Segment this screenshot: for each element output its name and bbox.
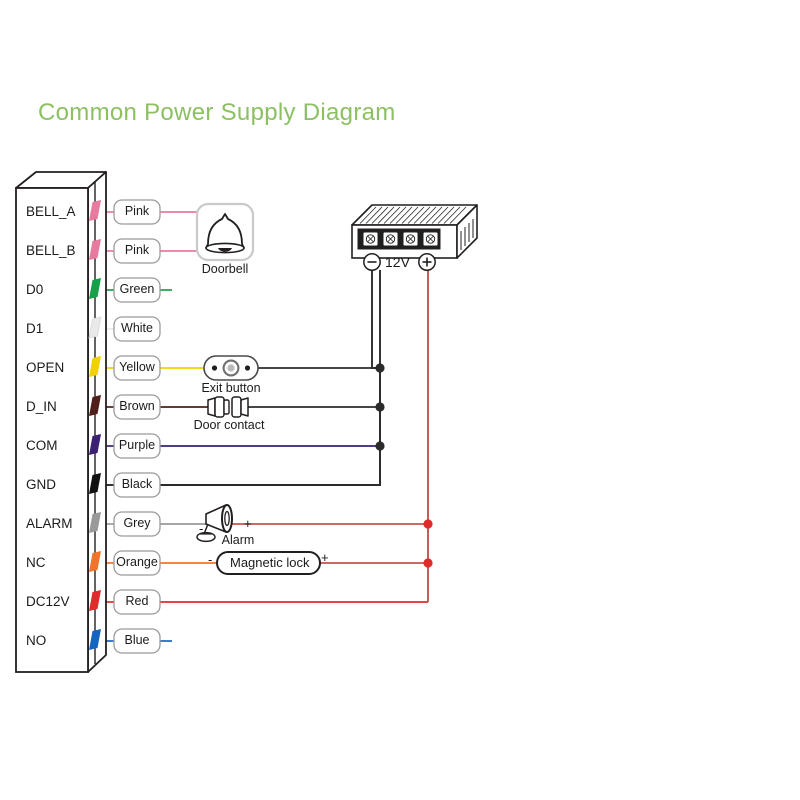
terminal-label-d1: D1 — [26, 321, 43, 336]
ground-bus-junction-0 — [375, 363, 384, 372]
ground-bus-junction-2 — [375, 441, 384, 450]
terminal-label-dc12v: DC12V — [26, 594, 70, 609]
psu-negative-to-bus — [372, 323, 380, 368]
psu-voltage-label: 12V — [385, 254, 410, 270]
terminal-label-open: OPEN — [26, 360, 64, 375]
terminal-label-d0: D0 — [26, 282, 43, 297]
terminal-label-alarm: ALARM — [26, 516, 73, 531]
wire-gnd-bus-to-psu-negative — [160, 270, 380, 485]
terminal-label-no: NO — [26, 633, 46, 648]
wire-name-pink-1: Pink — [114, 243, 160, 257]
terminal-label-com: COM — [26, 438, 58, 453]
terminal-label-gnd: GND — [26, 477, 56, 492]
alarm-negative-sign: - — [199, 521, 203, 536]
terminal-label-nc: NC — [26, 555, 46, 570]
wiring-diagram-canvas: Common Power Supply Diagram — [0, 0, 800, 800]
wire-name-grey-8: Grey — [114, 516, 160, 530]
exit-button-device[interactable] — [204, 356, 258, 380]
terminal-label-bell_b: BELL_B — [26, 243, 76, 258]
alarm-caption: Alarm — [215, 533, 261, 547]
magnetic-lock-negative-sign: - — [208, 552, 212, 567]
wire-name-orange-9: Orange — [114, 555, 160, 569]
power-bus-junction-1 — [423, 558, 432, 567]
wire-name-purple-6: Purple — [114, 438, 160, 452]
wire-name-yellow-4: Yellow — [114, 360, 160, 374]
magnetic-lock-label: Magnetic lock — [230, 555, 309, 570]
alarm-positive-sign: + — [244, 516, 252, 531]
wire-name-green-2: Green — [114, 282, 160, 296]
terminal-label-d_in: D_IN — [26, 399, 57, 414]
door-contact-device[interactable] — [208, 397, 248, 417]
ground-bus-junction-1 — [375, 402, 384, 411]
doorbell-caption: Doorbell — [197, 262, 253, 276]
exit-button-caption: Exit button — [191, 381, 271, 395]
wire-name-red-10: Red — [114, 594, 160, 608]
wire-name-black-7: Black — [114, 477, 160, 491]
wire-name-pink-0: Pink — [114, 204, 160, 218]
wire-name-blue-11: Blue — [114, 633, 160, 647]
door-contact-caption: Door contact — [183, 418, 275, 432]
wire-name-white-3: White — [114, 321, 160, 335]
power-bus-junction-0 — [423, 519, 432, 528]
junction-dot-layer — [375, 363, 432, 567]
wire-name-brown-5: Brown — [114, 399, 160, 413]
doorbell-device[interactable] — [197, 204, 253, 260]
magnetic-lock-positive-sign: + — [321, 550, 329, 565]
power-supply-unit[interactable] — [352, 205, 477, 270]
terminal-label-bell_a: BELL_A — [26, 204, 76, 219]
